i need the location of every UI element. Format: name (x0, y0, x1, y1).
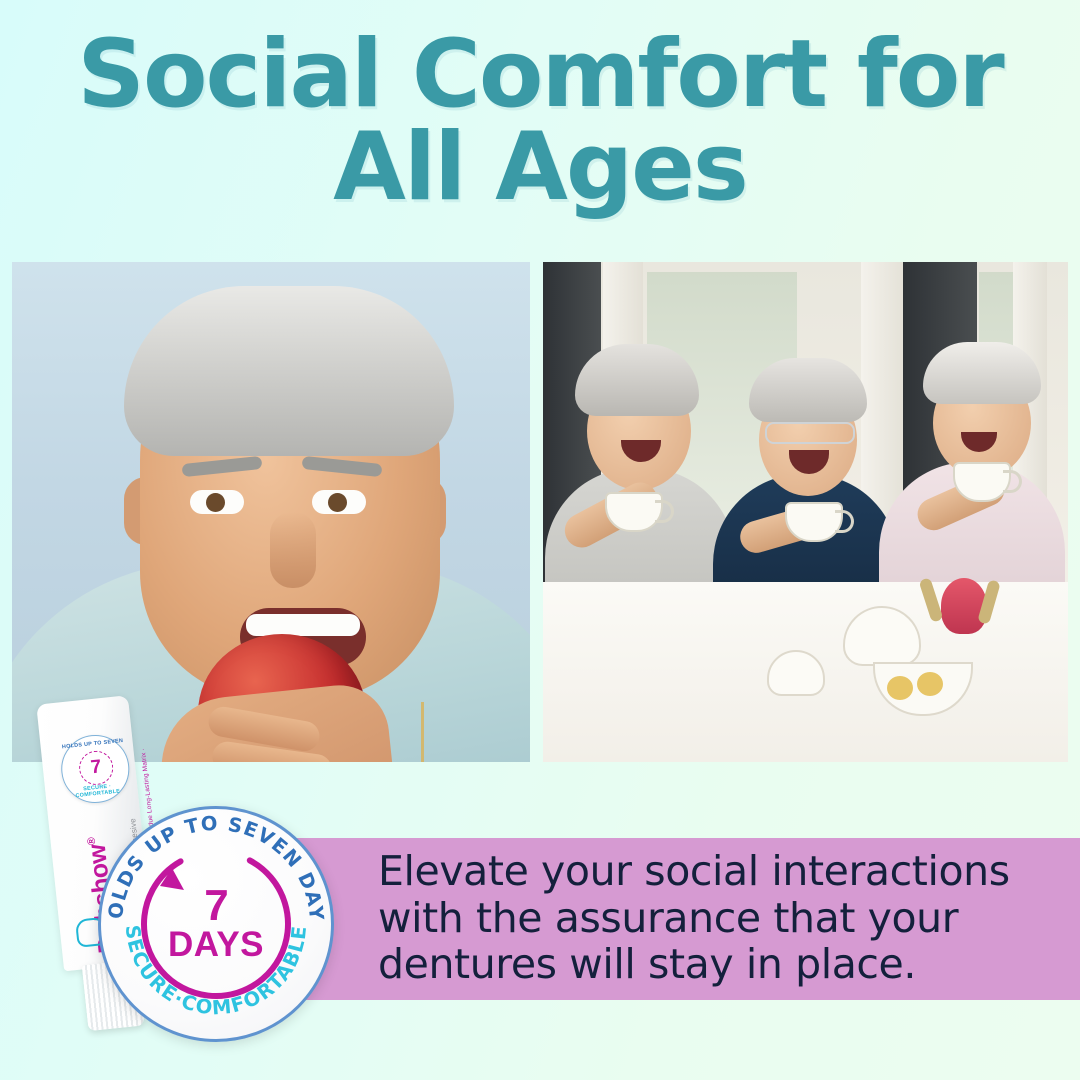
caption-line-2: with the assurance that your (378, 895, 1058, 942)
man-hair (124, 286, 454, 456)
ad-canvas: Social Comfort for All Ages (0, 0, 1080, 1080)
caption-line-3: dentures will stay in place. (378, 941, 1058, 988)
page-title: Social Comfort for All Ages (0, 28, 1080, 214)
eyeglasses (765, 422, 855, 444)
man-teeth (246, 614, 360, 636)
man-scene-background (12, 262, 530, 762)
mini-seal-top-arc: HOLDS UP TO SEVEN (60, 738, 126, 751)
seven-day-seal-badge: HOLDS UP TO SEVEN DAYS SECURE·COMFORTABL… (98, 806, 334, 1042)
woman-right-hair (923, 342, 1041, 404)
caption-text: Elevate your social interactions with th… (378, 848, 1058, 988)
man-eye-left (190, 490, 244, 514)
man-nose (270, 512, 316, 588)
seal-center-unit: DAYS (168, 927, 264, 962)
fruit-2 (917, 672, 943, 696)
trademark-symbol: ® (86, 837, 99, 846)
fruit-1 (887, 676, 913, 700)
photo-man-eating-apple (12, 262, 530, 762)
caption-line-1: Elevate your social interactions (378, 848, 1058, 895)
seal-center: 7 DAYS (150, 856, 282, 992)
photo-seniors-tea-party (543, 262, 1068, 762)
seal-center-number: 7 (204, 886, 227, 926)
woman-center-hair (749, 358, 867, 422)
tea-room-background (543, 262, 1068, 762)
protea-flower (941, 578, 987, 634)
man-eye-right (312, 490, 366, 514)
